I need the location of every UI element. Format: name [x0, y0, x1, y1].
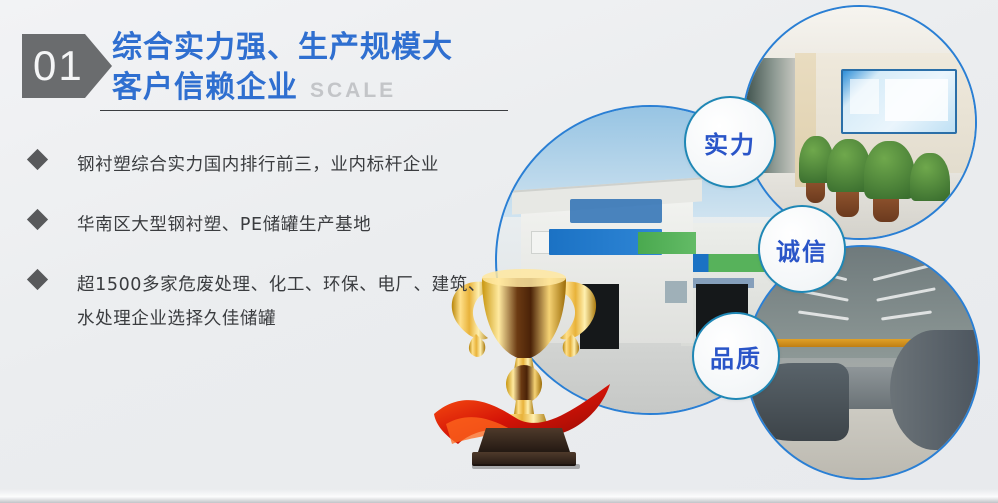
potted-plant — [910, 153, 949, 202]
badge-strength[interactable]: 实力 — [684, 96, 776, 188]
banner-stage: 01 综合实力强、生产规模大 客户信赖企业SCALE 钢衬塑综合实力国内排行前三… — [0, 0, 998, 503]
title-subtitle: SCALE — [310, 79, 396, 102]
list-item-text: 钢衬塑综合实力国内排行前三，业内标杆企业 — [77, 148, 492, 182]
diamond-bullet-icon — [27, 269, 48, 290]
list-item-text: 华南区大型钢衬塑、PE储罐生产基地 — [77, 208, 492, 242]
title-line-2: 客户信赖企业 — [112, 70, 298, 105]
feature-list: 钢衬塑综合实力国内排行前三，业内标杆企业 华南区大型钢衬塑、PE储罐生产基地 超… — [22, 148, 492, 362]
diamond-bullet-icon — [27, 209, 48, 230]
list-item: 钢衬塑综合实力国内排行前三，业内标杆企业 — [22, 148, 492, 182]
office-information-board — [841, 69, 957, 134]
list-item-text: 超1500多家危废处理、化工、环保、电厂、建筑、水处理企业选择久佳储罐 — [77, 268, 492, 336]
section-number-badge: 01 — [22, 34, 112, 98]
list-item: 超1500多家危废处理、化工、环保、电厂、建筑、水处理企业选择久佳储罐 — [22, 268, 492, 336]
factory-company-name-sign — [570, 199, 662, 223]
section-number-label: 01 — [22, 45, 84, 87]
badge-strength-label: 实力 — [704, 125, 756, 160]
title-line-2-row: 客户信赖企业SCALE — [112, 68, 542, 111]
badge-integrity-label: 诚信 — [776, 232, 828, 267]
title-line-1: 综合实力强、生产规模大 — [112, 28, 542, 68]
photo-office-corridor — [742, 5, 977, 240]
page-title: 综合实力强、生产规模大 客户信赖企业SCALE — [112, 28, 542, 111]
badge-quality[interactable]: 品质 — [692, 312, 780, 400]
potted-plant — [864, 141, 915, 199]
badge-quality-label: 品质 — [710, 339, 762, 374]
diamond-bullet-icon — [27, 149, 48, 170]
factory-window — [665, 281, 686, 302]
factory-green-sign — [638, 232, 696, 253]
photo-cluster: 实力 诚信 品质 — [470, 0, 998, 503]
storage-tank-right — [890, 330, 980, 450]
title-divider — [100, 110, 508, 111]
list-item: 华南区大型钢衬塑、PE储罐生产基地 — [22, 208, 492, 242]
badge-integrity[interactable]: 诚信 — [758, 205, 846, 293]
